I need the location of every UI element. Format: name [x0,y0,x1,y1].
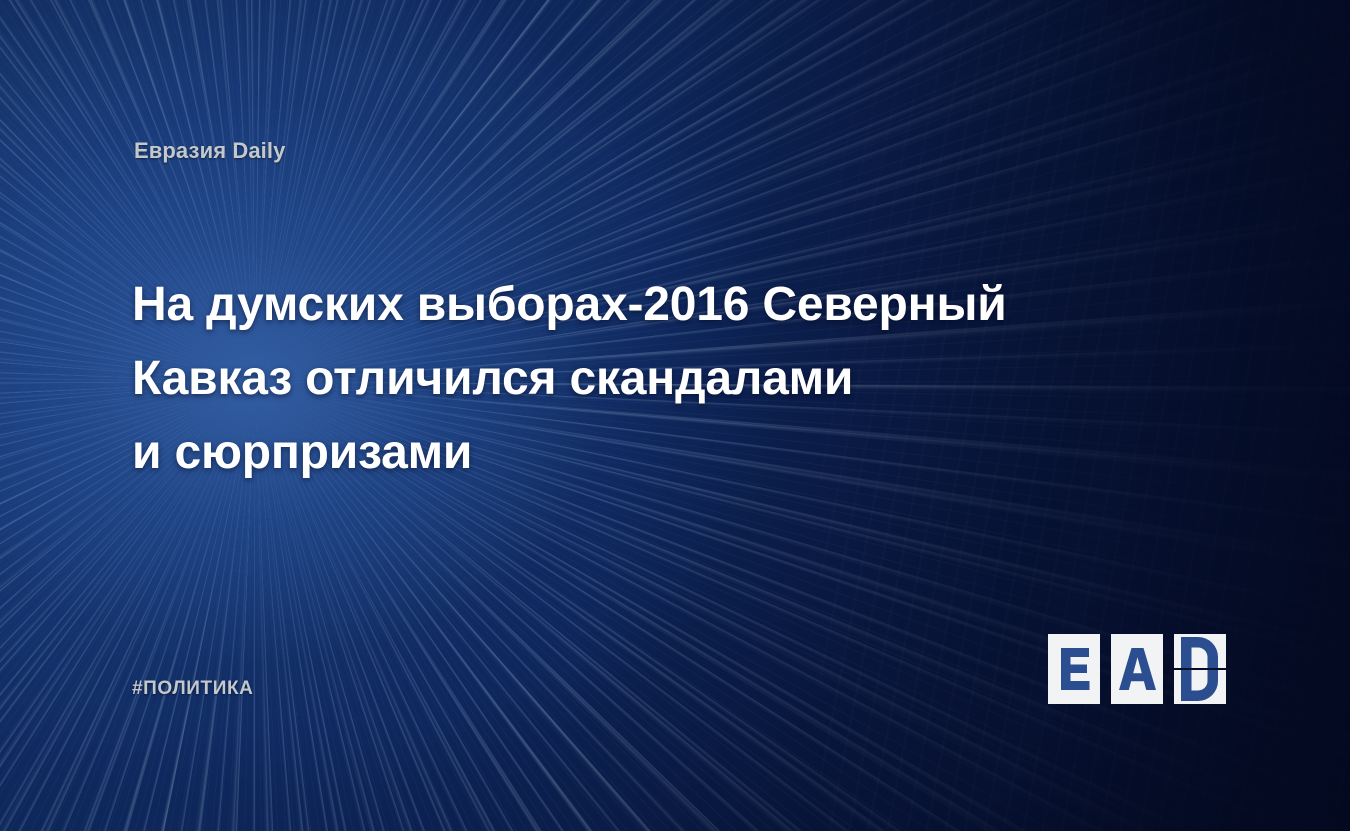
headline-line-2: Кавказ отличился скандалами [132,342,1132,416]
eadaily-logo [1048,632,1226,706]
article-headline: На думских выборах-2016 Северный Кавказ … [132,268,1132,490]
logo-tile-a [1111,634,1163,704]
publication-wordmark: Евразия Daily [134,138,285,164]
headline-line-3: и сюрпризами [132,416,1132,490]
logo-letter-e [1061,648,1090,690]
headline-line-1: На думских выборах-2016 Северный [132,268,1132,342]
card-content: Евразия Daily На думских выборах-2016 Се… [0,0,1350,831]
eadaily-logo-svg [1048,632,1226,706]
share-card: Евразия Daily На думских выборах-2016 Се… [0,0,1350,831]
category-hashtag[interactable]: #ПОЛИТИКА [132,678,254,700]
